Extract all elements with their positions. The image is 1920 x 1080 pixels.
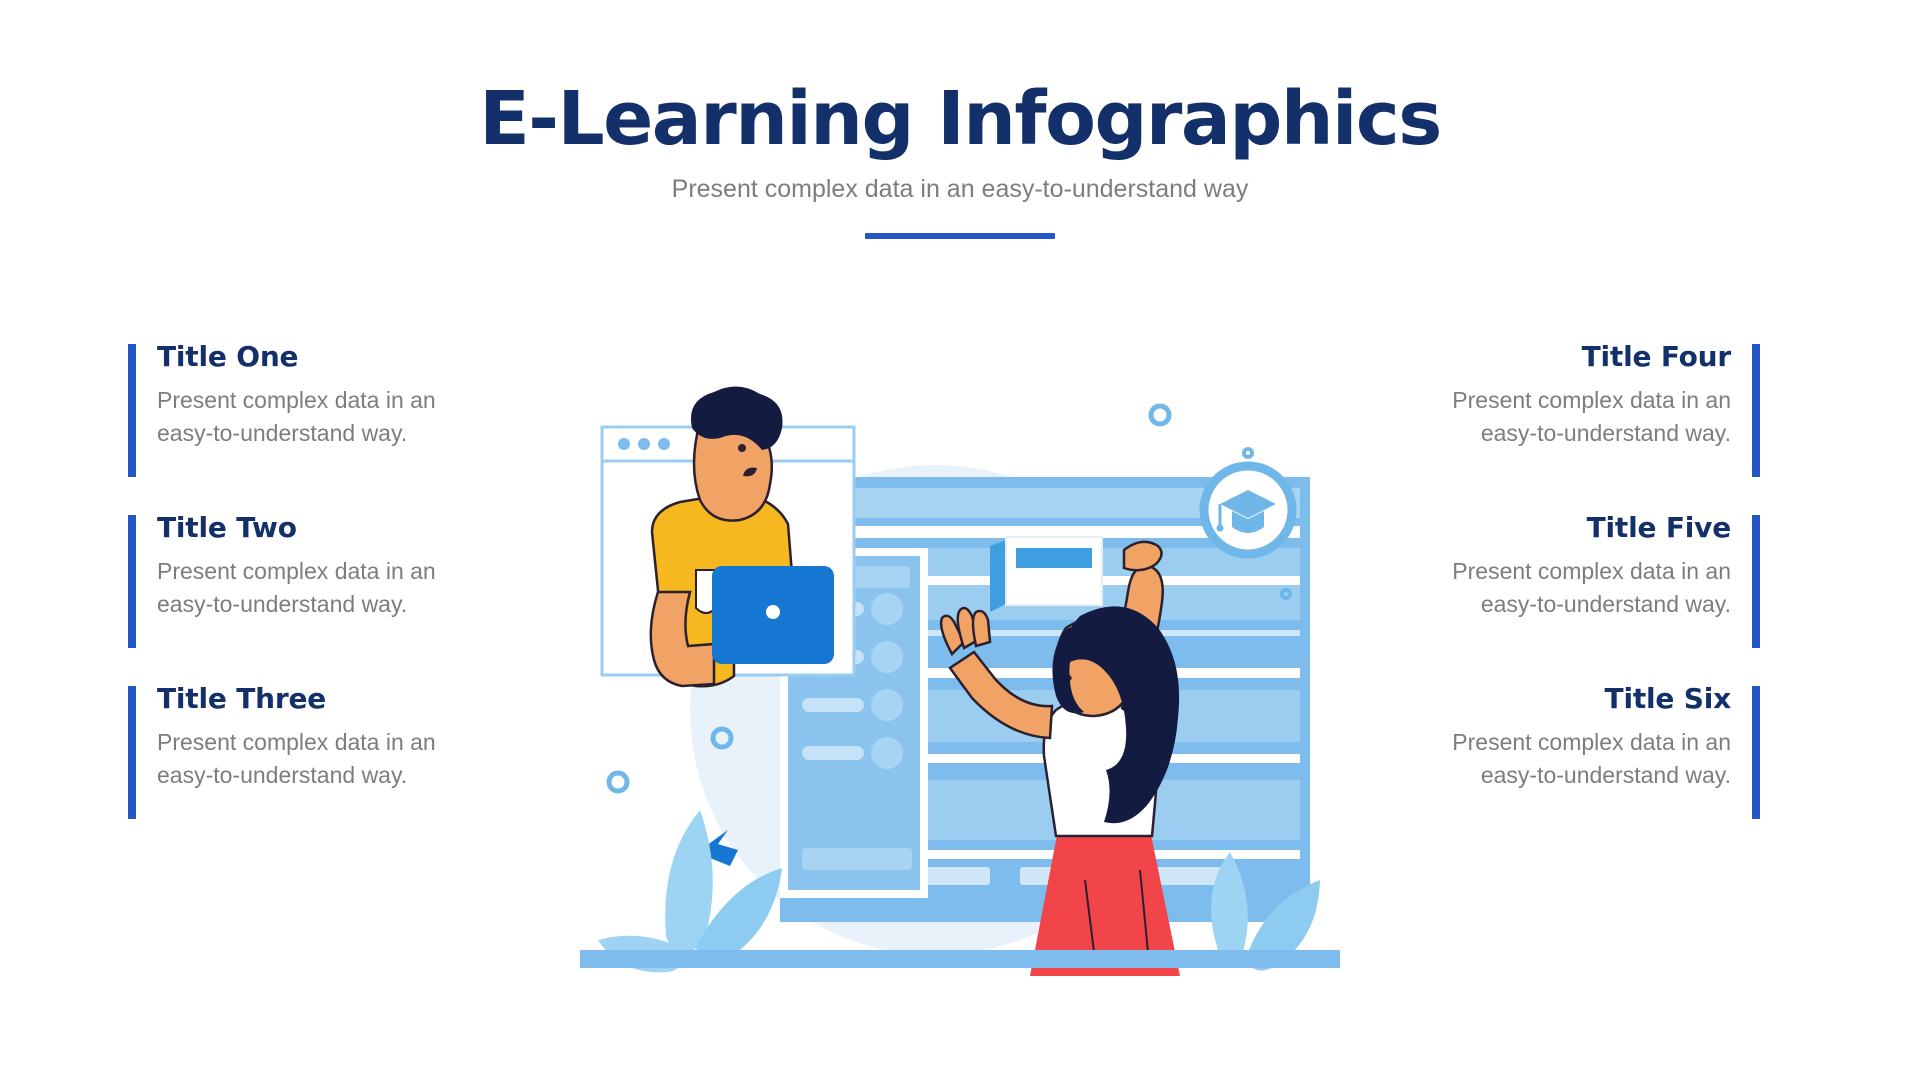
item-title: Title Four xyxy=(1340,340,1731,374)
item-description: Present complex data in an easy-to-under… xyxy=(157,726,477,792)
list-item[interactable]: Title Two Present complex data in an eas… xyxy=(128,511,548,621)
decor-ring xyxy=(609,773,627,791)
decor-ring xyxy=(1151,406,1169,424)
item-description: Present complex data in an easy-to-under… xyxy=(1411,555,1731,621)
page-subtitle: Present complex data in an easy-to-under… xyxy=(0,160,1920,204)
accent-bar xyxy=(128,515,136,648)
item-description: Present complex data in an easy-to-under… xyxy=(1411,384,1731,450)
decor-dot xyxy=(1244,449,1252,457)
accent-bar xyxy=(1752,344,1760,477)
list-item[interactable]: Title Four Present complex data in an ea… xyxy=(1340,340,1760,450)
item-title: Title Two xyxy=(157,511,548,545)
accent-bar xyxy=(128,686,136,819)
accent-bar xyxy=(128,344,136,477)
list-item[interactable]: Title Five Present complex data in an ea… xyxy=(1340,511,1760,621)
ground-line xyxy=(580,950,1340,968)
list-item[interactable]: Title One Present complex data in an eas… xyxy=(128,340,548,450)
item-description: Present complex data in an easy-to-under… xyxy=(157,555,477,621)
page-header: E-Learning Infographics Present complex … xyxy=(0,0,1920,239)
item-title: Title Three xyxy=(157,682,548,716)
graduation-cap-icon xyxy=(1204,466,1292,554)
right-items-column: Title Four Present complex data in an ea… xyxy=(1340,340,1760,792)
central-illustration xyxy=(580,380,1340,1000)
list-item[interactable]: Title Three Present complex data in an e… xyxy=(128,682,548,792)
item-description: Present complex data in an easy-to-under… xyxy=(1411,726,1731,792)
accent-bar xyxy=(1752,686,1760,819)
title-underline-divider xyxy=(865,233,1055,239)
item-title: Title Five xyxy=(1340,511,1731,545)
document-card-icon xyxy=(990,537,1102,612)
item-title: Title One xyxy=(157,340,548,374)
left-items-column: Title One Present complex data in an eas… xyxy=(128,340,548,792)
window-dot-icon xyxy=(618,438,630,450)
item-title: Title Six xyxy=(1340,682,1731,716)
item-description: Present complex data in an easy-to-under… xyxy=(157,384,477,450)
window-dot-icon xyxy=(638,438,650,450)
page-title: E-Learning Infographics xyxy=(0,0,1920,160)
accent-bar xyxy=(1752,515,1760,648)
window-dot-icon xyxy=(658,438,670,450)
list-item[interactable]: Title Six Present complex data in an eas… xyxy=(1340,682,1760,792)
